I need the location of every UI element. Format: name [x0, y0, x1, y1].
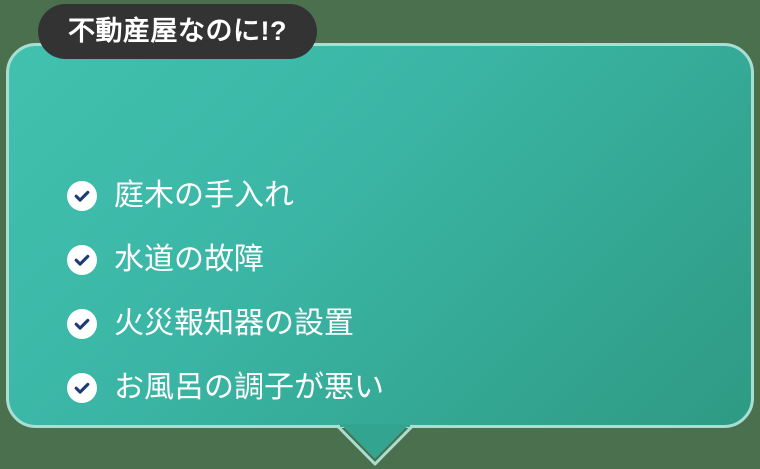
list-item-label: お風呂の調子が悪い: [114, 373, 384, 403]
check-circle-icon: [67, 245, 97, 275]
list-item: 水道の故障: [67, 228, 707, 292]
badge-label: 不動産屋なのに!?: [68, 18, 287, 45]
check-circle-icon: [67, 309, 97, 339]
list-item: 庭木の手入れ: [67, 164, 707, 228]
balloon-tail: [337, 424, 413, 466]
list-item: 火災報知器の設置: [67, 292, 707, 356]
callout-graphic: 庭木の手入れ 水道の故障 火災報知器の設置: [0, 0, 760, 469]
service-checklist: 庭木の手入れ 水道の故障 火災報知器の設置: [67, 164, 707, 420]
speech-balloon: 庭木の手入れ 水道の故障 火災報知器の設置: [6, 43, 754, 428]
badge: 不動産屋なのに!?: [38, 4, 317, 59]
check-circle-icon: [67, 181, 97, 211]
list-item-label: 庭木の手入れ: [114, 181, 294, 211]
list-item-label: 水道の故障: [114, 245, 264, 275]
list-item-label: 火災報知器の設置: [114, 309, 354, 339]
check-circle-icon: [67, 373, 97, 403]
list-item: お風呂の調子が悪い: [67, 356, 707, 420]
